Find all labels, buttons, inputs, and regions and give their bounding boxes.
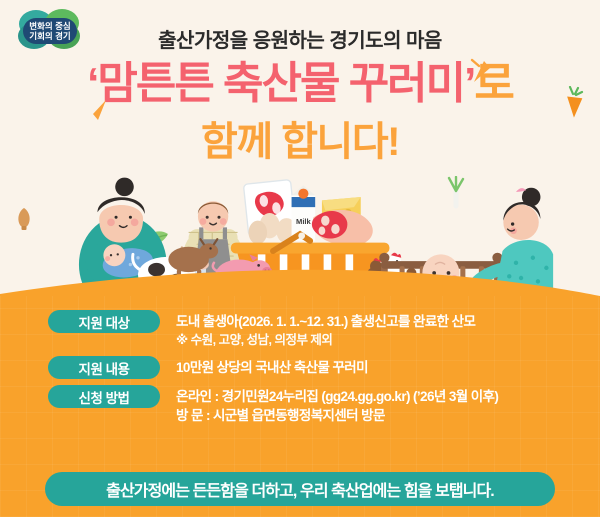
ham-icon	[312, 210, 373, 246]
how-to-apply-online: 온라인 : 경기민원24누리집 (gg24.gg.go.kr) (’26년 3월…	[176, 387, 600, 406]
support-content-line: 10만원 상당의 국내산 축산물 꾸러미	[176, 358, 600, 377]
title-main: ‘맘튼튼 축산물 꾸러미’	[87, 59, 474, 108]
carrot-icon	[556, 86, 586, 122]
milk-label: Milk	[296, 217, 312, 226]
bottom-banner-text: 출산가정에는 든든함을 더하고, 우리 축산업에는 힘을 보탭니다.	[106, 477, 494, 501]
support-target-note: ※ 수원, 고양, 성남, 의정부 제외	[176, 331, 600, 350]
support-target-text: 도내 출생아(2026. 1. 1.~12. 31.) 출생신고를 완료한 산모…	[176, 310, 600, 350]
title-line-1: ‘맘튼튼 축산물 꾸러미’로	[0, 62, 600, 106]
bottom-banner: 출산가정에는 든든함을 더하고, 우리 축산업에는 힘을 보탭니다.	[45, 472, 555, 506]
badge-support-content: 지원 내용	[48, 356, 160, 379]
spark-icon	[470, 58, 492, 84]
support-content-text: 10만원 상당의 국내산 축산물 꾸러미	[176, 356, 600, 377]
title-line-2: 함께 합니다!	[0, 122, 600, 162]
how-to-apply-visit: 방 문 : 시군별 읍면동행정복지센터 방문	[176, 406, 600, 425]
milk-carton: Milk	[292, 185, 316, 241]
badge-how-to-apply: 신청 방법	[48, 385, 160, 408]
info-row-support-target: 지원 대상 도내 출생아(2026. 1. 1.~12. 31.) 출생신고를 …	[0, 310, 600, 350]
info-rows: 지원 대상 도내 출생아(2026. 1. 1.~12. 31.) 출생신고를 …	[0, 310, 600, 431]
kicker-text: 출산가정을 응원하는 경기도의 마음	[0, 24, 600, 53]
how-to-apply-text: 온라인 : 경기민원24누리집 (gg24.gg.go.kr) (’26년 3월…	[176, 385, 600, 425]
poster-root: 변화의 중심 기회의 경기 출산가정을 응원하는 경기도의 마음 ‘맘튼튼 축산…	[0, 0, 600, 517]
info-row-how-to-apply: 신청 방법 온라인 : 경기민원24누리집 (gg24.gg.go.kr) (’…	[0, 385, 600, 425]
support-target-line: 도내 출생아(2026. 1. 1.~12. 31.) 출생신고를 완료한 산모	[176, 312, 600, 331]
spark-icon	[92, 98, 110, 124]
info-row-support-content: 지원 내용 10만원 상당의 국내산 축산물 꾸러미	[0, 356, 600, 379]
badge-support-target: 지원 대상	[48, 310, 160, 333]
